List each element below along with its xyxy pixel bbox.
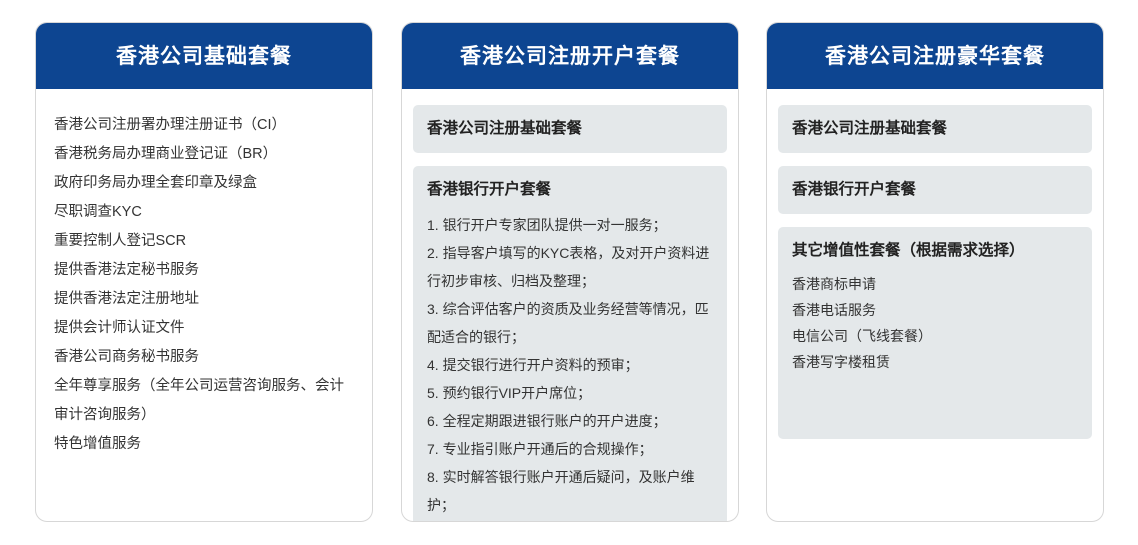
list-item: 政府印务局办理全套印章及绿盒 bbox=[54, 169, 356, 198]
panel-title: 香港公司注册基础套餐 bbox=[792, 118, 1078, 140]
card-body-account: 香港公司注册基础套餐 香港银行开户套餐 1. 银行开户专家团队提供一对一服务； … bbox=[402, 89, 738, 522]
card-title-account: 香港公司注册开户套餐 bbox=[460, 46, 680, 67]
card-title-basic: 香港公司基础套餐 bbox=[116, 46, 292, 67]
list-item: 3. 综合评估客户的资质及业务经营等情况，匹配适合的银行； bbox=[427, 295, 713, 351]
list-item: 香港公司注册署办理注册证书（CI） bbox=[54, 111, 356, 140]
bank-service-list: 1. 银行开户专家团队提供一对一服务； 2. 指导客户填写的KYC表格，及对开户… bbox=[427, 211, 713, 519]
list-item: 4. 提交银行进行开户资料的预审； bbox=[427, 351, 713, 379]
card-header-deluxe: 香港公司注册豪华套餐 bbox=[767, 23, 1103, 89]
pricing-package-board: 香港公司基础套餐 香港公司注册署办理注册证书（CI） 香港税务局办理商业登记证（… bbox=[0, 0, 1138, 545]
panel-group-deluxe: 香港公司注册基础套餐 香港银行开户套餐 其它增值性套餐（根据需求选择） 香港商标… bbox=[767, 89, 1103, 439]
list-item: 全年尊享服务（全年公司运营咨询服务、会计审计咨询服务） bbox=[54, 372, 356, 430]
panel-title: 其它增值性套餐（根据需求选择） bbox=[792, 240, 1078, 262]
list-item: 香港税务局办理商业登记证（BR） bbox=[54, 140, 356, 169]
value-added-list: 香港商标申请 香港电话服务 电信公司（飞线套餐） 香港写字楼租赁 bbox=[792, 271, 1078, 375]
list-item: 香港公司商务秘书服务 bbox=[54, 343, 356, 372]
panel-title: 香港银行开户套餐 bbox=[792, 179, 1078, 201]
list-item: 6. 全程定期跟进银行账户的开户进度； bbox=[427, 407, 713, 435]
list-item: 尽职调查KYC bbox=[54, 198, 356, 227]
package-card-account[interactable]: 香港公司注册开户套餐 香港公司注册基础套餐 香港银行开户套餐 1. 银行开户专家… bbox=[401, 22, 739, 522]
list-item: 香港写字楼租赁 bbox=[792, 349, 1078, 375]
list-item: 1. 银行开户专家团队提供一对一服务； bbox=[427, 211, 713, 239]
panel-group-account: 香港公司注册基础套餐 香港银行开户套餐 1. 银行开户专家团队提供一对一服务； … bbox=[402, 89, 738, 522]
list-item: 2. 指导客户填写的KYC表格，及对开户资料进行初步审核、归档及整理； bbox=[427, 239, 713, 295]
list-item: 5. 预约银行VIP开户席位； bbox=[427, 379, 713, 407]
card-title-deluxe: 香港公司注册豪华套餐 bbox=[825, 46, 1045, 67]
list-item: 提供香港法定注册地址 bbox=[54, 285, 356, 314]
feature-list-basic: 香港公司注册署办理注册证书（CI） 香港税务局办理商业登记证（BR） 政府印务局… bbox=[36, 89, 372, 459]
list-item: 7. 专业指引账户开通后的合规操作； bbox=[427, 435, 713, 463]
package-card-basic[interactable]: 香港公司基础套餐 香港公司注册署办理注册证书（CI） 香港税务局办理商业登记证（… bbox=[35, 22, 373, 522]
card-body-deluxe: 香港公司注册基础套餐 香港银行开户套餐 其它增值性套餐（根据需求选择） 香港商标… bbox=[767, 89, 1103, 439]
list-item: 电信公司（飞线套餐） bbox=[792, 323, 1078, 349]
list-item: 香港电话服务 bbox=[792, 297, 1078, 323]
list-item: 提供香港法定秘书服务 bbox=[54, 256, 356, 285]
list-item: 8. 实时解答银行账户开通后疑问，及账户维护； bbox=[427, 463, 713, 519]
list-item: 重要控制人登记SCR bbox=[54, 227, 356, 256]
panel-title: 香港公司注册基础套餐 bbox=[427, 118, 713, 140]
panel-bank-account: 香港银行开户套餐 bbox=[778, 166, 1092, 214]
panel-registration-basic: 香港公司注册基础套餐 bbox=[778, 105, 1092, 153]
card-body-basic: 香港公司注册署办理注册证书（CI） 香港税务局办理商业登记证（BR） 政府印务局… bbox=[36, 89, 372, 459]
card-header-basic: 香港公司基础套餐 bbox=[36, 23, 372, 89]
panel-value-added: 其它增值性套餐（根据需求选择） 香港商标申请 香港电话服务 电信公司（飞线套餐）… bbox=[778, 227, 1092, 439]
panel-bank-account: 香港银行开户套餐 1. 银行开户专家团队提供一对一服务； 2. 指导客户填写的K… bbox=[413, 166, 727, 522]
list-item: 特色增值服务 bbox=[54, 430, 356, 459]
package-card-deluxe[interactable]: 香港公司注册豪华套餐 香港公司注册基础套餐 香港银行开户套餐 其它增值性套餐（根… bbox=[766, 22, 1104, 522]
list-item: 提供会计师认证文件 bbox=[54, 314, 356, 343]
list-item: 香港商标申请 bbox=[792, 271, 1078, 297]
card-header-account: 香港公司注册开户套餐 bbox=[402, 23, 738, 89]
panel-title: 香港银行开户套餐 bbox=[427, 179, 713, 201]
panel-registration-basic: 香港公司注册基础套餐 bbox=[413, 105, 727, 153]
